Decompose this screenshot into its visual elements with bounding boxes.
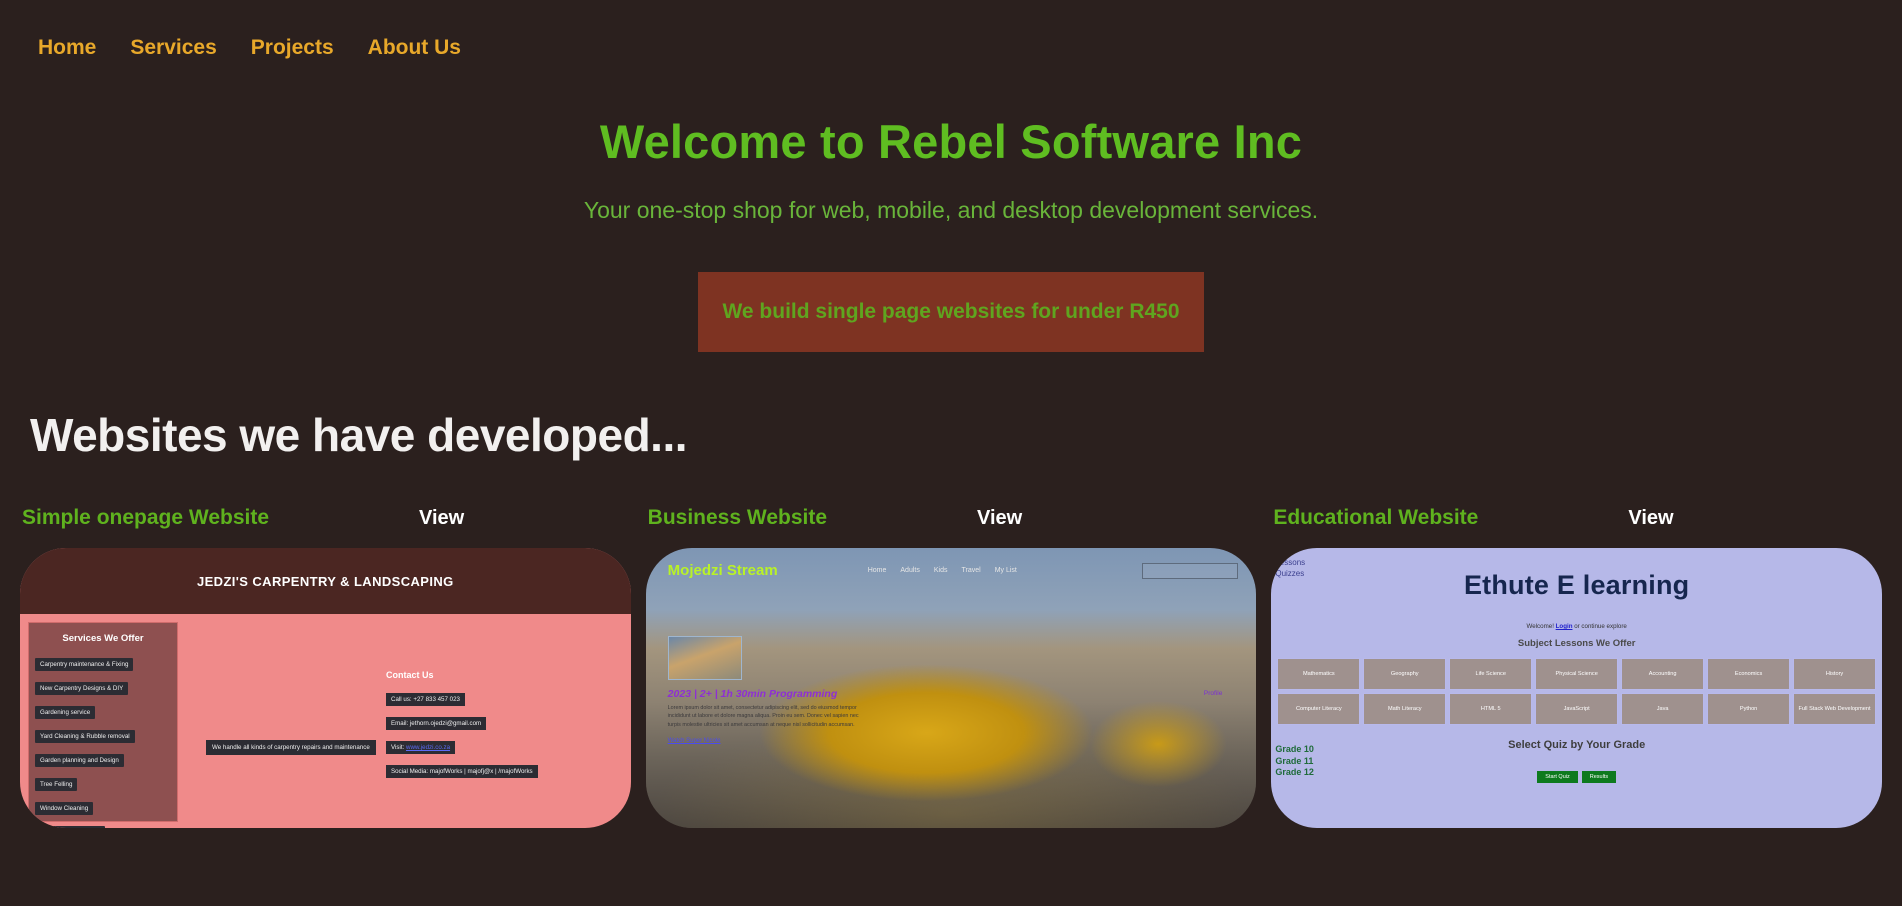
hero-subtitle: Your one-stop shop for web, mobile, and … [0, 197, 1902, 224]
nav-link-home[interactable]: Home [38, 36, 96, 60]
subject-cell[interactable]: JavaScript [1535, 693, 1618, 725]
stream-meta: 2023 | 2+ | 1h 30min Programming [668, 688, 868, 700]
grade-option[interactable]: Grade 12 [1275, 767, 1314, 779]
carpentry-body: Services We Offer Carpentry maintenance … [20, 614, 631, 828]
cta-wrapper: We build single page websites for under … [0, 272, 1902, 352]
carpentry-contact-panel: Contact Us Call us: +27 833 457 023 Emai… [386, 670, 536, 784]
contact-email[interactable]: Email: jethorn.ojedzi@gmail.com [386, 717, 486, 730]
stream-featured-info: 2023 | 2+ | 1h 30min Programming Lorem i… [668, 688, 868, 747]
subject-cell[interactable]: Python [1707, 693, 1790, 725]
subject-cell[interactable]: HTML 5 [1449, 693, 1532, 725]
card-title-educational: Educational Website [1273, 506, 1478, 530]
stream-nav-mylist[interactable]: My List [995, 567, 1017, 574]
service-chip[interactable]: Mini-Painting Projects [35, 826, 105, 828]
subject-cell[interactable]: Java [1621, 693, 1704, 725]
edu-quiz-title: Select Quiz by Your Grade [1271, 739, 1882, 751]
edu-welcome-prefix: Welcome! [1527, 623, 1556, 630]
preview-streaming-site[interactable]: Mojedzi Stream Home Adults Kids Travel M… [646, 548, 1257, 828]
main-navbar: Home Services Projects About Us [0, 0, 1902, 72]
portfolio-cards: Simple onepage Website View JEDZI'S CARP… [0, 506, 1902, 828]
card-header: Educational Website View [1271, 506, 1882, 530]
stream-logo: Mojedzi Stream [668, 562, 778, 579]
subject-cell[interactable]: Mathematics [1277, 658, 1360, 690]
edu-site-title: Ethute E learning [1271, 548, 1882, 601]
edu-nav-lessons[interactable]: Lessons [1275, 558, 1305, 569]
nav-link-about-us[interactable]: About Us [368, 36, 461, 60]
service-chip[interactable]: Carpentry maintenance & Fixing [35, 658, 133, 671]
stream-watch-link[interactable]: Watch Super Nicole [668, 738, 721, 744]
results-button[interactable]: Results [1582, 771, 1616, 783]
carpentry-services-panel: Services We Offer Carpentry maintenance … [28, 622, 178, 822]
nav-link-projects[interactable]: Projects [251, 36, 334, 60]
hero-section: Welcome to Rebel Software Inc Your one-s… [0, 114, 1902, 352]
stream-nav-kids[interactable]: Kids [934, 567, 948, 574]
service-chip[interactable]: Window Cleaning [35, 802, 93, 815]
subject-cell[interactable]: Computer Literacy [1277, 693, 1360, 725]
subject-cell[interactable]: Accounting [1621, 658, 1704, 690]
page-title: Welcome to Rebel Software Inc [0, 114, 1902, 169]
grade-option[interactable]: Grade 11 [1275, 756, 1314, 768]
subject-cell[interactable]: History [1793, 658, 1876, 690]
preview-elearning-site[interactable]: Lessons Quizzes Ethute E learning Welcom… [1271, 548, 1882, 828]
contact-phone[interactable]: Call us: +27 833 457 023 [386, 693, 465, 706]
start-quiz-button[interactable]: Start Quiz [1537, 771, 1577, 783]
card-header: Business Website View [646, 506, 1257, 530]
subject-cell[interactable]: Life Science [1449, 658, 1532, 690]
contact-visit-link[interactable]: www.jedzi.co.za [406, 744, 450, 751]
edu-welcome-suffix: or continue explore [1572, 623, 1626, 630]
portfolio-card-business: Business Website View Mojedzi Stream Hom… [646, 506, 1257, 828]
subject-cell[interactable]: Full Stack Web Development [1793, 693, 1876, 725]
service-chip[interactable]: New Carpentry Designs & DIY [35, 682, 128, 695]
carpentry-main-area: We handle all kinds of carpentry repairs… [178, 614, 631, 828]
portfolio-card-onepage: Simple onepage Website View JEDZI'S CARP… [20, 506, 631, 828]
subject-cell[interactable]: Geography [1363, 658, 1446, 690]
subject-cell[interactable]: Physical Science [1535, 658, 1618, 690]
contact-title: Contact Us [386, 670, 536, 680]
view-link-onepage[interactable]: View [419, 507, 464, 530]
card-title-onepage: Simple onepage Website [22, 506, 269, 530]
stream-thumbnail[interactable] [668, 636, 742, 680]
view-link-educational[interactable]: View [1628, 507, 1673, 530]
service-chip[interactable]: Yard Cleaning & Rubble removal [35, 730, 135, 743]
carpentry-blurb: We handle all kinds of carpentry repairs… [206, 740, 376, 755]
edu-welcome-line: Welcome! Login or continue explore [1271, 623, 1882, 630]
carpentry-services-title: Services We Offer [29, 633, 177, 644]
preview-carpentry-site[interactable]: JEDZI'S CARPENTRY & LANDSCAPING Services… [20, 548, 631, 828]
grade-option[interactable]: Grade 10 [1275, 744, 1314, 756]
service-chip[interactable]: Tree Felling [35, 778, 77, 791]
subject-cell[interactable]: Economics [1707, 658, 1790, 690]
stream-search-input[interactable] [1142, 563, 1238, 579]
edu-subject-grid: Mathematics Geography Life Science Physi… [1277, 658, 1876, 725]
stream-description: Lorem ipsum dolor sit amet, consectetur … [668, 704, 868, 729]
edu-grade-list: Grade 10 Grade 11 Grade 12 [1275, 744, 1314, 779]
carpentry-header: JEDZI'S CARPENTRY & LANDSCAPING [20, 548, 631, 614]
edu-side-nav: Lessons Quizzes [1275, 558, 1305, 580]
cta-banner[interactable]: We build single page websites for under … [698, 272, 1204, 352]
subject-cell[interactable]: Math Literacy [1363, 693, 1446, 725]
card-title-business: Business Website [648, 506, 827, 530]
edu-quiz-buttons: Start Quiz Results [1271, 771, 1882, 783]
stream-profile-link[interactable]: Profile [1204, 690, 1222, 697]
edu-nav-quizzes[interactable]: Quizzes [1275, 569, 1305, 580]
service-chip[interactable]: Gardening service [35, 706, 95, 719]
stream-nav-home[interactable]: Home [868, 567, 887, 574]
contact-visit-prefix: Visit: [391, 744, 406, 751]
view-link-business[interactable]: View [977, 507, 1022, 530]
edu-login-link[interactable]: Login [1556, 623, 1573, 630]
nav-link-services[interactable]: Services [130, 36, 216, 60]
stream-nav-links: Home Adults Kids Travel My List [868, 567, 1017, 574]
carpentry-header-title: JEDZI'S CARPENTRY & LANDSCAPING [197, 574, 454, 589]
portfolio-card-educational: Educational Website View Lessons Quizzes… [1271, 506, 1882, 828]
stream-nav-travel[interactable]: Travel [961, 567, 980, 574]
contact-visit[interactable]: Visit: www.jedzi.co.za [386, 741, 455, 754]
portfolio-heading: Websites we have developed... [30, 408, 1902, 462]
cta-banner-label: We build single page websites for under … [722, 300, 1179, 324]
stream-navbar: Mojedzi Stream Home Adults Kids Travel M… [646, 548, 1257, 579]
edu-subjects-title: Subject Lessons We Offer [1271, 638, 1882, 649]
stream-nav-adults[interactable]: Adults [900, 567, 919, 574]
service-chip[interactable]: Garden planning and Design [35, 754, 124, 767]
card-header: Simple onepage Website View [20, 506, 631, 530]
contact-social[interactable]: Social Media: majofWorks | majofj@x | /m… [386, 765, 538, 778]
